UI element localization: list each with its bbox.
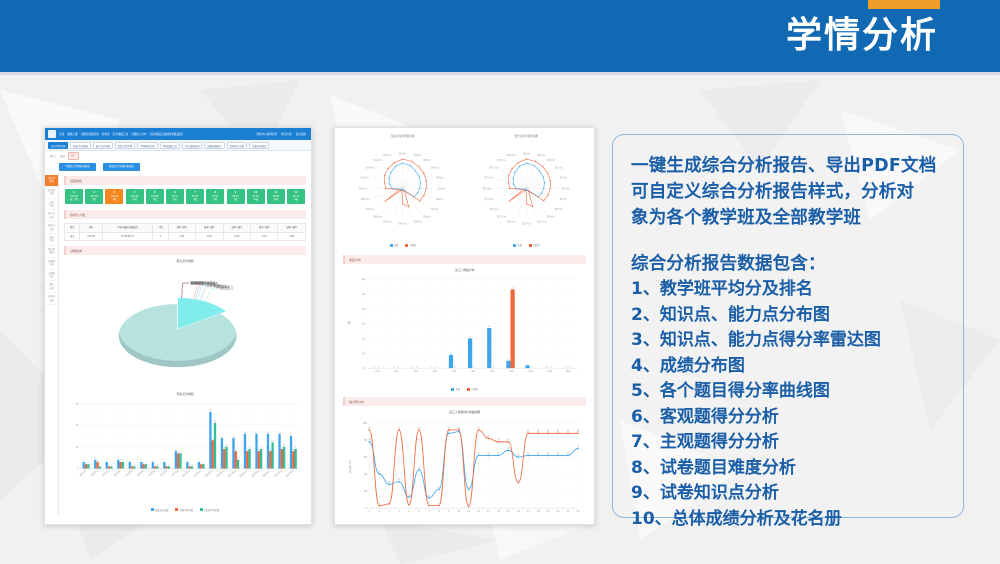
table-header-cell: 平均分/最高分/最低分 [102,224,152,232]
svg-text:7: 7 [428,511,430,514]
legend-swatch-icon [451,388,454,391]
svg-text:22: 22 [576,511,579,514]
svg-text:30: 30 [362,322,366,326]
svg-text:3: 3 [97,460,99,462]
rank-class: 2班 [85,198,103,202]
svg-text:知识点9: 知识点9 [423,215,431,219]
svg-text:31: 31 [398,480,401,482]
svg-text:15: 15 [507,511,510,514]
svg-text:8: 8 [235,449,237,451]
legend-item: 本班 [390,243,399,247]
svg-text:知识点11: 知识点11 [398,221,407,225]
rank-class: 12班 [267,198,285,202]
rank-card[interactable]: 4 100.38 14班 [126,189,144,204]
svg-text:62: 62 [537,453,540,455]
rank-card[interactable]: 7 99.33 6班 [186,189,204,204]
legend-swatch-icon [405,244,408,247]
svg-text:知识点10: 知识点10 [181,468,191,478]
svg-text:11: 11 [467,511,470,514]
table-cell: 150.00 [80,232,102,240]
app-logo-icon [48,130,56,138]
topbar-right-group: 帮助中心操作指导 解决方案 退出系统 [257,132,309,137]
svg-text:知识点6: 知识点6 [136,468,145,477]
svg-text:能力点3: 能力点3 [547,158,555,162]
app-filter-row: 科目： 语文 高三 [45,151,311,160]
section-header-rank: 班级排名 [64,176,306,185]
svg-text:知识点17: 知识点17 [262,468,272,478]
svg-text:14: 14 [221,436,224,438]
legend-swatch-icon [529,244,532,247]
svg-text:9: 9 [448,511,450,514]
table-header-cell: 满分 [80,224,102,232]
score-chart-legend: 本班 [全部] [343,387,586,391]
rank-card[interactable]: 5 100.05 4班 [146,189,164,204]
svg-text:知识点10: 知识点10 [414,220,423,224]
svg-text:10: 10 [457,511,460,514]
absent-table: 科目 满分 平均分/最高分/最低分 人数 缺考人数1 缺考人数2 缺考人数3 缺… [64,223,306,241]
svg-text:知识点3: 知识点3 [101,468,110,477]
download-report-button[interactable]: 下载综合学情分析报告 [59,163,96,171]
table-header-cell: 缺考人数4 [251,224,278,232]
svg-text:能力点4: 能力点4 [555,166,563,170]
score-distribution-chart: [高三] 成绩分布 0102030405060人数 00000000902002… [343,268,586,391]
filter-grade-chip[interactable]: 高三 [68,152,79,160]
svg-text:6: 6 [418,511,420,514]
app-topbar: 考试 成绩上报 分数条成绩查询 阅卷室 高考成绩汇总 分数线上分布 [高清晰度扫… [45,128,311,140]
app-side-nav: 平均分 排名 缺考及 人数 试卷 完成 能力点 分析 知识点 分析 成绩 分布 … [45,173,59,516]
svg-text:知识点16: 知识点16 [250,468,260,478]
svg-text:21: 21 [566,511,569,514]
svg-text:16: 16 [267,432,270,434]
svg-text:8: 8 [247,449,249,451]
svg-text:70: 70 [577,446,580,448]
rank-class: 6班 [186,198,204,202]
sidenav-item-ability[interactable]: 能力点 分析 [45,210,58,222]
logout-link[interactable]: 退出系统 [296,132,306,137]
svg-text:能力点18: 能力点18 [489,166,498,170]
svg-text:能力点17: 能力点17 [484,175,493,179]
svg-text:3: 3 [164,460,166,462]
legend-item: 本班平均分值 [175,508,193,512]
topbar-menu-item[interactable]: 高考成绩汇总 [113,132,129,137]
rank-card-highlighted[interactable]: 3 101.02 3班 [105,189,123,204]
sidenav-item-completion[interactable]: 试卷 完成 [45,199,58,211]
app-action-buttons: 下载综合学情分析报告 预览综合学情分析报告 [45,160,311,173]
svg-text:<60: <60 [470,370,475,373]
svg-text:60: 60 [517,455,520,457]
svg-text:88: 88 [557,431,560,433]
legend-item: [全部] [405,243,416,247]
legend-swatch-icon [200,508,203,511]
bar-chart-svg: 0102030 32243131143331132231131187731132… [64,397,306,506]
table-row: 语文 150.00 73.82/56.70 2 1/30 1/30 1/30 1… [65,232,306,240]
svg-text:21: 21 [214,421,217,423]
svg-text:9: 9 [281,447,283,449]
table-header-cell: 人数 [153,224,168,232]
svg-text:2: 2 [379,511,381,514]
svg-text:8: 8 [438,511,440,514]
page-header: 学情分析 [0,0,1000,72]
tab-comprehensive-analysis[interactable]: 综合学情分析 [48,142,68,149]
rate-chart-title: [高三] 各题得分率曲线图 [343,410,586,414]
help-center-link[interactable]: 帮助中心操作指导 [257,132,278,137]
svg-text:知识点4: 知识点4 [431,166,439,170]
svg-text:知识点8: 知识点8 [159,468,168,477]
table-cell: 1/30 [278,232,306,240]
svg-text:<70: <70 [489,370,494,373]
rank-card[interactable]: 9 98.24 7班 [227,189,245,204]
svg-text:知识点13: 知识点13 [373,215,382,219]
list-heading: 综合分析报告数据包含： [631,251,947,277]
rank-card[interactable]: 12 96.12 8班 [287,189,305,204]
svg-text:知识点13: 知识点13 [215,468,225,478]
svg-text:92: 92 [398,428,401,430]
spacer [631,231,947,251]
section-header-rate-curve: 得分率分布 [343,397,586,406]
svg-text:1: 1 [99,465,101,467]
svg-text:12: 12 [271,441,273,443]
svg-text:14: 14 [497,511,500,514]
svg-text:知识点5: 知识点5 [436,175,444,179]
svg-text:能力点15: 能力点15 [484,197,493,201]
table-header-cell: 缺考人数3 [223,224,250,232]
rank-class: 7班 [227,198,245,202]
svg-text:17: 17 [527,511,530,514]
topbar-menu-item[interactable]: 考试 [59,132,64,137]
svg-text:12: 12 [428,496,431,498]
rank-class: 9班 [206,198,224,202]
svg-text:3: 3 [122,460,124,462]
svg-text:知识点18: 知识点18 [366,166,375,170]
tab-knowledge-distribution[interactable]: 知识点分布图 [70,142,90,149]
topbar-menu-item[interactable]: 成绩上报 [67,132,77,137]
svg-text:3: 3 [106,460,108,462]
svg-text:16: 16 [278,432,281,434]
svg-text:满分: 满分 [566,369,571,373]
svg-text:13: 13 [487,511,490,514]
list-item: 2、知识点、能力点分布图 [631,303,947,329]
sidenav-item-objective[interactable]: 客观题 分析 [45,258,58,270]
svg-text:能力点7: 能力点7 [560,197,568,201]
svg-text:3: 3 [388,511,390,514]
description-panel: 一键生成综合分析报告、导出PDF文档 可自定义综合分析报告样式，分析对 象为各个… [612,134,964,518]
svg-text:100: 100 [362,422,367,426]
topbar-menu-item[interactable]: [高清晰度扫描阅卷参数设置] [150,132,183,137]
screenshot-left-report[interactable]: 考试 成绩上报 分数条成绩查询 阅卷室 高考成绩汇总 分数线上分布 [高清晰度扫… [44,127,312,525]
legend-label: 本班平均分值 [180,508,193,512]
legend-swatch-icon [513,244,516,247]
svg-text:62: 62 [477,453,480,455]
svg-text:20: 20 [362,337,366,341]
svg-text:16: 16 [517,511,520,514]
svg-text:能力点12: 能力点12 [507,220,516,224]
svg-text:8: 8 [258,449,260,451]
svg-text:9: 9 [249,447,251,449]
svg-text:40: 40 [362,307,366,311]
radar-chart-row: 知识点得分率雷达图 知识点1知识点2知识点3知识点4知识点5知识点6知识点7知识… [343,134,586,247]
svg-text:82: 82 [487,436,490,438]
svg-text:能力点20: 能力点20 [507,153,516,157]
rate-chart-svg: 020406080100得分率（%） 784028311345122288902… [343,415,586,524]
rank-card[interactable]: 10 97.60 11班 [247,189,265,204]
legend-label: 本班 [518,243,522,247]
sidenav-item-absent[interactable]: 缺考及 人数 [45,187,58,199]
tab-subject-summary[interactable]: 单科成绩汇总 [160,142,180,149]
svg-text:2: 2 [145,463,146,465]
bar-chart-title: 知识点分布图 [64,392,306,396]
svg-text:28: 28 [388,482,391,484]
rank-card[interactable]: 1 103.82 高三1班 [65,189,83,204]
list-item: 7、主观题得分分析 [631,430,947,456]
svg-text:能力点10: 能力点10 [537,220,546,224]
svg-text:5: 5 [408,511,410,514]
list-item: 10、总体成绩分析及花名册 [631,507,947,533]
legend-item: 本班 [513,243,522,247]
table-header-row: 科目 满分 平均分/最高分/最低分 人数 缺考人数1 缺考人数2 缺考人数3 缺… [65,224,306,232]
tab-knowledge-rate[interactable]: 知识点得分率 [115,142,135,149]
svg-text:知识点1: 知识点1 [399,151,407,155]
sidenav-item-roster[interactable]: 花名册 总表 [45,293,58,305]
svg-text:2: 2 [88,463,89,465]
table-cell: 1/30 [168,232,195,240]
pie-chart-title: 能力点分布图 [64,259,306,263]
preview-report-button[interactable]: 预览综合学情分析报告 [103,163,140,171]
svg-text:50: 50 [362,292,366,296]
table-header-cell: 缺考人数2 [196,224,223,232]
feature-list: 1、教学班平均分及排名 2、知识点、能力点分布图 3、知识点、能力点得分率雷达图… [631,277,947,532]
legend-swatch-icon [467,388,470,391]
tab-class-stats[interactable]: 班级成绩统计 [204,142,224,149]
svg-text:1: 1 [168,465,170,467]
svg-text:80: 80 [364,439,368,443]
legend-label: [全部]平均分值 [204,508,219,512]
score-chart-svg: 0102030405060人数 000000009020027055320000… [343,273,586,386]
svg-text:<80: <80 [508,370,513,373]
svg-text:20: 20 [469,337,472,339]
list-item: 5、各个题目得分率曲线图 [631,379,947,405]
svg-text:<20: <20 [394,370,399,373]
svg-text:92: 92 [418,428,421,430]
app-body: 平均分 排名 缺考及 人数 试卷 完成 能力点 分析 知识点 分析 成绩 分布 … [45,173,311,516]
svg-text:能力点13: 能力点13 [497,215,506,219]
svg-text:16: 16 [255,432,258,434]
legend-item: [全部] [467,387,478,391]
svg-text:知识点17: 知识点17 [361,175,370,179]
tab-ability-distribution[interactable]: 能力点分布图 [93,142,113,149]
svg-text:92: 92 [448,428,451,430]
tab-paper-report[interactable]: 试卷分析报告 [249,142,269,149]
svg-text:62: 62 [527,453,530,455]
svg-text:40: 40 [364,473,368,477]
tab-student-query[interactable]: 学生成绩查询 [182,142,202,149]
description-line: 象为各个教学班及全部教学班 [631,205,947,231]
svg-text:知识点4: 知识点4 [113,468,122,477]
svg-text:能力点2: 能力点2 [537,153,545,157]
svg-text:19: 19 [547,511,550,514]
svg-text:18: 18 [537,511,540,514]
svg-text:62: 62 [567,453,570,455]
svg-text:1: 1 [191,465,193,467]
legend-item: [全部] [529,243,540,247]
svg-text:能力点5: 能力点5 [560,175,568,179]
svg-text:能力点9: 能力点9 [547,215,555,219]
score-rate-line-chart: [高三] 各题得分率曲线图 020406080100得分率（%） 7840283… [343,410,586,525]
description-line: 一键生成综合分析报告、导出PDF文档 [631,153,947,179]
knowledge-bar-chart: 知识点分布图 0102030 3224313114333113223113118… [64,392,306,511]
sidenav-item-score-dist[interactable]: 成绩 分布 [45,234,58,246]
svg-text:5: 5 [508,359,510,361]
svg-text:得分率（%）: 得分率（%） [348,459,352,473]
list-item: 6、客观题得分分析 [631,405,947,431]
svg-text:2: 2 [527,363,529,365]
table-cell: 语文 [65,232,80,240]
svg-text:27: 27 [488,326,491,328]
svg-text:能力点8: 能力点8 [555,207,563,211]
svg-text:14: 14 [232,436,235,438]
table-cell: 73.82/56.70 [102,232,152,240]
svg-text:知识点7: 知识点7 [436,197,444,201]
svg-text:<100: <100 [546,370,553,373]
svg-text:<40: <40 [432,370,437,373]
topbar-menu-item[interactable]: 阅卷室 [102,132,110,137]
legend-swatch-icon [390,244,393,247]
sidenav-item-difficulty[interactable]: 难度 分析 [45,281,58,293]
svg-text:92: 92 [458,428,461,430]
svg-text:0: 0 [77,467,79,471]
svg-text:知识点12: 知识点12 [383,220,392,224]
svg-text:1: 1 [369,511,371,514]
radar-svg-knowledge: 知识点1知识点2知识点3知识点4知识点5知识点6知识点7知识点8知识点9知识点1… [343,139,463,242]
svg-text:知识点19: 知识点19 [373,158,382,162]
svg-text:知识点3: 知识点3 [423,158,431,162]
svg-text:53: 53 [511,288,514,290]
svg-text:7: 7 [180,452,182,454]
rank-card[interactable]: 8 98.91 9班 [206,189,224,204]
svg-text:<30: <30 [413,370,418,373]
solution-link[interactable]: 解决方案 [281,132,291,137]
svg-text:8: 8 [293,449,295,451]
svg-text:知识点2: 知识点2 [414,153,422,157]
filter-subject-value[interactable]: 语文 [60,154,65,158]
svg-text:9: 9 [295,447,297,449]
app-content: 班级排名 1 103.82 高三1班 2 102.55 2班 3 101.02 … [59,173,311,516]
topbar-menu-item[interactable]: 分数条成绩查询 [81,132,99,137]
svg-text:0: 0 [366,507,368,511]
svg-text:<90: <90 [528,370,533,373]
rank-class: 4班 [146,198,164,202]
table-cell: 1/30 [251,232,278,240]
svg-text:能力点6: 能力点6 [561,186,569,190]
svg-text:知识点8: 知识点8 [431,207,439,211]
rank-card[interactable]: 6 99.72 5班 [166,189,184,204]
legend-swatch-icon [175,508,178,511]
legend-item: 本班 [451,387,460,391]
table-cell: 1/30 [223,232,250,240]
sidenav-item-rate-curve[interactable]: 得分率 曲线 [45,246,58,258]
svg-text:知识点14: 知识点14 [227,468,237,478]
table-header-cell: 缺考人数5 [278,224,306,232]
sidenav-item-rank[interactable]: 平均分 排名 [45,175,58,187]
svg-text:<30: <30 [374,370,379,373]
list-item: 1、教学班平均分及排名 [631,277,947,303]
svg-text:2: 2 [201,463,202,465]
svg-text:68: 68 [507,448,510,450]
tab-overall-stats[interactable]: 总体统计分析 [227,142,247,149]
svg-text:60: 60 [364,456,368,460]
tab-single-question[interactable]: 单项题目分析 [137,142,157,149]
list-item: 4、成绩分布图 [631,354,947,380]
svg-text:2: 2 [85,463,86,465]
rank-class: 8班 [287,198,305,202]
pie-chart-svg: （知识理解能力_A级）说理与判断 2（推断）4归纳概括能力推理 2概念 2语言理… [64,264,306,388]
svg-text:20: 20 [76,423,80,427]
svg-text:3: 3 [428,503,430,505]
app-tab-bar: 综合学情分析 知识点分布图 能力点分布图 知识点得分率 单项题目分析 单科成绩汇… [45,140,311,151]
svg-text:3: 3 [152,460,154,462]
list-item: 3、知识点、能力点得分率雷达图 [631,328,947,354]
svg-text:能力点14: 能力点14 [489,207,498,211]
svg-text:3: 3 [379,503,381,505]
radar-legend: 本班 [全部] [343,243,463,247]
svg-text:知识点6: 知识点6 [438,186,446,190]
rank-card[interactable]: 11 96.88 12班 [267,189,285,204]
legend-label: 本班 [456,387,460,391]
legend-swatch-icon [151,508,154,511]
topbar-menu-item[interactable]: 分数线上分布 [131,132,147,137]
svg-text:10: 10 [362,351,366,355]
svg-text:62: 62 [557,453,560,455]
sidenav-item-subjective[interactable]: 主观题 分析 [45,270,58,282]
header-underline [0,72,1000,75]
svg-text:88: 88 [537,431,540,433]
svg-text:40: 40 [378,472,381,474]
sidenav-item-knowledge[interactable]: 知识点 分析 [45,222,58,234]
description-line: 可自定义综合分析报告样式，分析对 [631,179,947,205]
legend-label: 本班 [394,243,398,247]
rank-card[interactable]: 2 102.55 2班 [85,189,103,204]
svg-text:知识点18: 知识点18 [273,468,283,478]
svg-text:<50: <50 [451,370,456,373]
svg-text:10: 10 [76,445,80,449]
bar-chart-legend: 知识点总分值 本班平均分值 [全部]平均分值 [64,508,306,512]
svg-text:16: 16 [244,432,247,434]
header-accent-bar [868,0,940,9]
svg-text:0: 0 [364,366,366,370]
svg-text:62: 62 [497,453,500,455]
legend-label: 知识点总分值 [155,508,168,512]
svg-text:88: 88 [567,431,570,433]
svg-text:知识点15: 知识点15 [361,197,370,201]
ability-pie-chart: 能力点分布图 （知识理解能力_A级）说理与判断 2（推断）4归纳概括能力推理 2… [64,259,306,388]
svg-text:作文表达 6: 作文表达 6 [220,286,234,290]
svg-text:知识点14: 知识点14 [366,207,375,211]
svg-text:能力点1: 能力点1 [523,151,531,155]
legend-item: 知识点总分值 [151,508,169,512]
svg-text:9: 9 [224,447,226,449]
screenshot-middle-report[interactable]: 知识点得分率雷达图 知识点1知识点2知识点3知识点4知识点5知识点6知识点7知识… [334,127,595,525]
table-cell: 2 [153,232,168,240]
rank-class: 11班 [247,198,265,202]
legend-label: [全部] [410,243,416,247]
rank-class: 14班 [126,198,144,202]
svg-text:知识点12: 知识点12 [204,468,214,478]
radar-svg-ability: 能力点1能力点2能力点3能力点4能力点5能力点6能力点7能力点8能力点9能力点1… [467,139,587,242]
svg-text:知识点2: 知识点2 [90,468,99,477]
svg-text:30: 30 [76,402,80,406]
svg-text:4: 4 [398,511,400,514]
radar-title: 知识点得分率雷达图 [343,134,463,138]
legend-label: [全部] [472,387,478,391]
